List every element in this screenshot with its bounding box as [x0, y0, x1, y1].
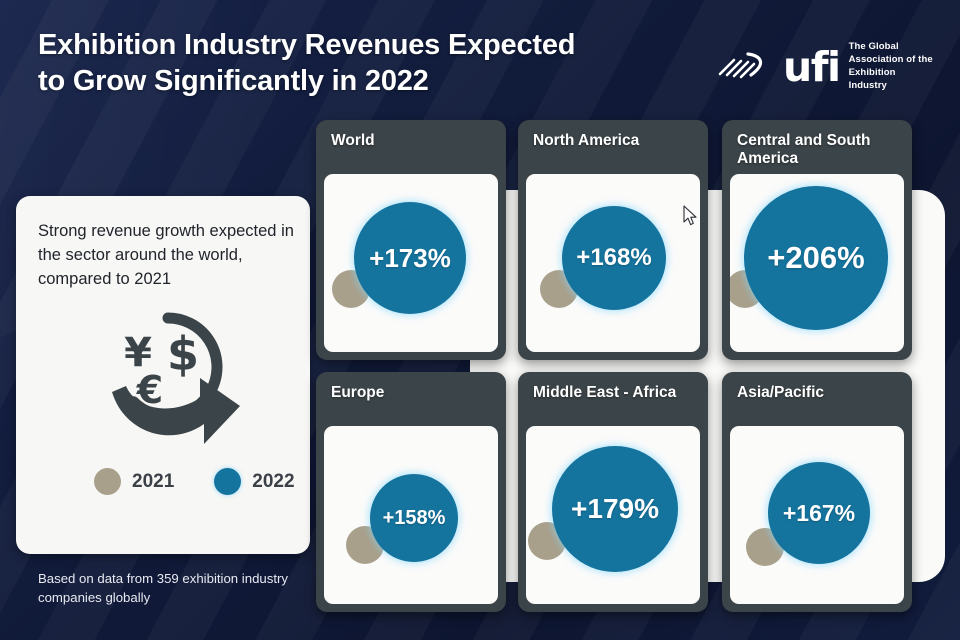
region-card-body: +179%: [526, 426, 700, 604]
region-card-body: +206%: [730, 174, 904, 352]
bubble-chart: +173%: [324, 174, 498, 352]
region-card-title: Middle East - Africa: [533, 384, 698, 402]
region-card[interactable]: Middle East - Africa+179%: [518, 372, 708, 612]
bubble-chart: +158%: [324, 426, 498, 604]
region-card-grid: World+173%North America+168%Central and …: [0, 0, 960, 640]
region-card-title: Central and South America: [737, 132, 902, 168]
bubble-value-label: +206%: [767, 240, 864, 276]
region-card-body: +173%: [324, 174, 498, 352]
region-card[interactable]: Asia/Pacific+167%: [722, 372, 912, 612]
region-card[interactable]: Central and South America+206%: [722, 120, 912, 360]
region-card[interactable]: World+173%: [316, 120, 506, 360]
bubble-chart: +179%: [526, 426, 700, 604]
bubble-2022-value: +179%: [552, 446, 678, 572]
region-card-title: North America: [533, 132, 698, 150]
region-card-title: World: [331, 132, 496, 150]
region-card-body: +167%: [730, 426, 904, 604]
bubble-2022-value: +167%: [768, 462, 870, 564]
mouse-pointer-icon: [683, 205, 699, 227]
region-card-body: +168%: [526, 174, 700, 352]
bubble-chart: +206%: [730, 174, 904, 352]
bubble-value-label: +168%: [576, 244, 651, 272]
bubble-2022-value: +168%: [562, 206, 666, 310]
bubble-value-label: +167%: [783, 500, 855, 527]
bubble-2022-value: +173%: [354, 202, 466, 314]
bubble-value-label: +173%: [369, 243, 451, 274]
region-card-body: +158%: [324, 426, 498, 604]
region-card[interactable]: North America+168%: [518, 120, 708, 360]
bubble-chart: +168%: [526, 174, 700, 352]
bubble-value-label: +179%: [571, 493, 659, 525]
region-card[interactable]: Europe+158%: [316, 372, 506, 612]
region-card-title: Europe: [331, 384, 496, 402]
bubble-chart: +167%: [730, 426, 904, 604]
infographic-canvas: Exhibition Industry Revenues Expected to…: [0, 0, 960, 640]
bubble-2022-value: +158%: [370, 474, 458, 562]
bubble-value-label: +158%: [383, 507, 446, 530]
bubble-2022-value: +206%: [744, 186, 888, 330]
region-card-title: Asia/Pacific: [737, 384, 902, 402]
